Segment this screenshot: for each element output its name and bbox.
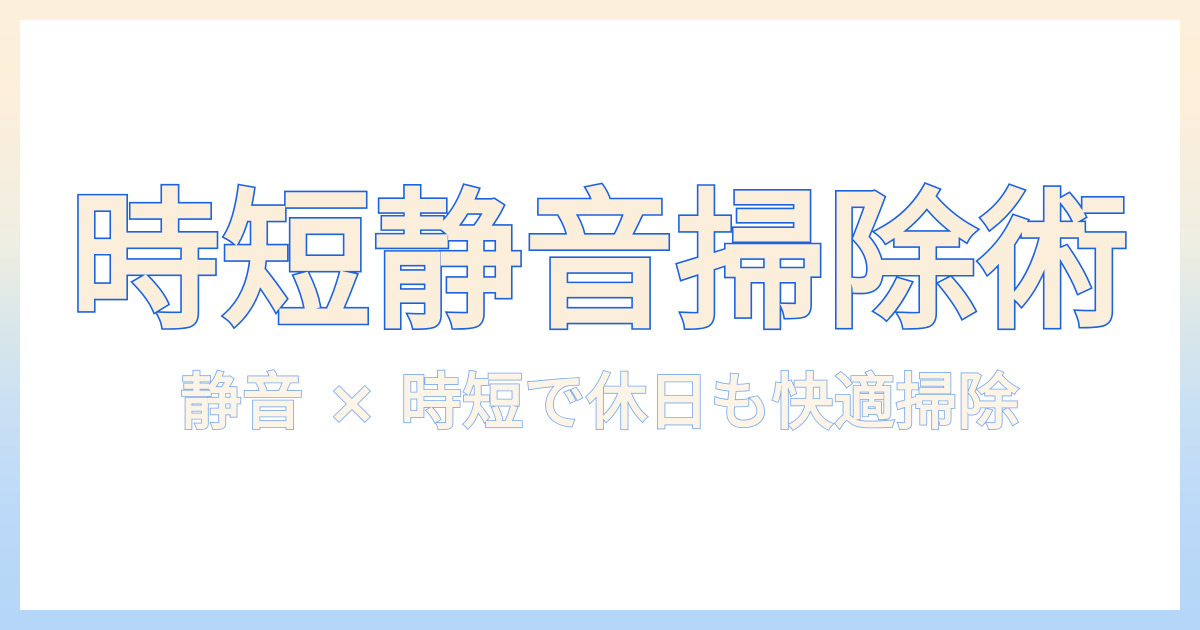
page-subtitle: 静音 × 時短で休日も快適掃除 [180, 369, 1019, 436]
page-title: 時短静音掃除術 [70, 185, 1131, 341]
poster-canvas: 時短静音掃除術 静音 × 時短で休日も快適掃除 [0, 0, 1200, 630]
text-stack: 時短静音掃除術 静音 × 時短で休日も快適掃除 [20, 20, 1180, 610]
white-content-card: 時短静音掃除術 静音 × 時短で休日も快適掃除 [20, 20, 1180, 610]
